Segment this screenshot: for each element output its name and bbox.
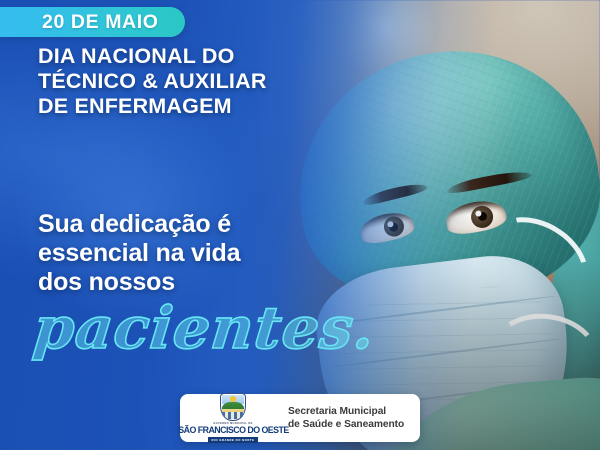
headline-line-1: DIA NACIONAL DO bbox=[38, 44, 378, 69]
poster-canvas: 20 DE MAIO DIA NACIONAL DO TÉCNICO & AUX… bbox=[0, 0, 600, 450]
municipal-logo: GOVERNO MUNICIPAL DE SÃO FRANCISCO DO OE… bbox=[190, 393, 276, 443]
date-badge: 20 DE MAIO bbox=[0, 7, 185, 37]
secretaria-text: Secretaria Municipal de Saúde e Saneamen… bbox=[288, 405, 404, 431]
headline-line-2: TÉCNICO & AUXILIAR bbox=[38, 69, 378, 94]
shield-shape bbox=[220, 393, 246, 421]
logo-city-name: SÃO FRANCISCO DO OESTE bbox=[178, 425, 288, 436]
secretaria-line-1: Secretaria Municipal bbox=[288, 405, 404, 418]
headline-block: DIA NACIONAL DO TÉCNICO & AUXILIAR DE EN… bbox=[38, 44, 378, 119]
tagline-script-word: pacientes. bbox=[31, 296, 379, 360]
secretaria-line-2: de Saúde e Saneamento bbox=[288, 418, 404, 431]
crest-wave bbox=[222, 412, 244, 419]
tagline-line-1: Sua dedicação é bbox=[38, 210, 378, 239]
tagline-line-3: dos nossos bbox=[38, 268, 378, 297]
date-badge-label: 20 DE MAIO bbox=[42, 11, 159, 34]
headline-line-3: DE ENFERMAGEM bbox=[38, 94, 378, 119]
tagline-block: Sua dedicação é essencial na vida dos no… bbox=[38, 210, 378, 297]
logo-state-name: RIO GRANDE DO NORTE bbox=[208, 437, 259, 443]
tagline-line-2: essencial na vida bbox=[38, 239, 378, 268]
footer-logo-card: GOVERNO MUNICIPAL DE SÃO FRANCISCO DO OE… bbox=[180, 394, 420, 442]
coat-of-arms-icon bbox=[220, 393, 246, 421]
